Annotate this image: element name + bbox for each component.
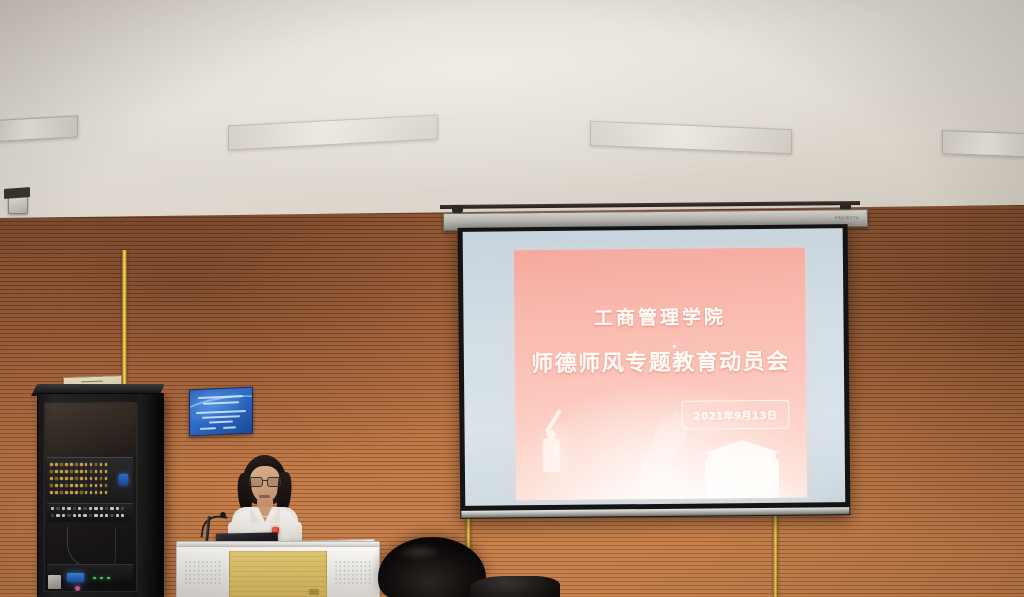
audio-mixer[interactable]	[47, 457, 133, 500]
rack-glass-door[interactable]	[44, 402, 137, 592]
patch-port-row[interactable]	[51, 514, 124, 517]
ceiling	[0, 0, 1024, 218]
blue-information-sign	[189, 387, 253, 437]
mixer-knob-row[interactable]	[50, 470, 107, 473]
mixer-knob-row[interactable]	[50, 477, 107, 480]
status-led-icon	[107, 577, 110, 580]
mixer-knob-row[interactable]	[50, 491, 107, 494]
patch-panel[interactable]	[47, 503, 133, 522]
sign-text-line	[200, 427, 216, 430]
eyeglasses-icon	[249, 477, 281, 486]
mixer-knob-row[interactable]	[50, 484, 107, 487]
slide-main-title: 师德师风专题教育动员会	[515, 344, 806, 379]
sign-text-line	[223, 426, 236, 429]
ceiling-light-panel	[228, 114, 438, 150]
presenter-mouth	[259, 495, 270, 498]
rack-side-panel	[137, 394, 163, 597]
ceiling-light-panel	[942, 130, 1024, 158]
ceiling-light-panel	[590, 121, 792, 154]
slide-date-text: 2021年9月13日	[694, 407, 778, 423]
slide-footer-mark: · · · · ·	[530, 487, 559, 492]
podium	[176, 546, 380, 597]
slide-date-badge: 2021年9月13日	[682, 400, 790, 430]
wall-sensor-icon	[8, 196, 28, 214]
mixer-knob-row[interactable]	[50, 463, 107, 466]
podium-speaker-grille	[334, 560, 372, 586]
patch-port-row[interactable]	[51, 507, 124, 510]
ceiling-light-panel	[0, 115, 78, 142]
amplifier-display-icon	[67, 573, 84, 582]
tiananmen-gate-icon	[703, 440, 782, 499]
power-led-icon	[75, 586, 80, 591]
presentation-room-photo: PROJECTA 工商管理学院 师德师风专题教育动员会	[0, 0, 1024, 597]
microphone-icon	[220, 512, 226, 518]
slide-organization-title: 工商管理学院	[514, 302, 805, 332]
status-led-icon	[93, 577, 96, 580]
equipment-rack	[37, 393, 164, 597]
necklace-icon	[256, 509, 274, 517]
podium-wood-panel	[229, 551, 327, 597]
slide-figure-silhouette	[531, 402, 584, 484]
plaque-text-line	[81, 381, 103, 383]
screen-brand-label: PROJECTA	[835, 215, 859, 220]
status-led-icon	[100, 577, 103, 580]
podium-emblem-icon	[309, 589, 319, 595]
projected-slide: 工商管理学院 师德师风专题教育动员会 2021年9月13日 · · · · ·	[514, 248, 807, 501]
projector-screen: 工商管理学院 师德师风专题教育动员会 2021年9月13日 · · · · ·	[458, 224, 851, 519]
podium-speaker-grille	[184, 560, 222, 586]
audience-member-shoulder	[470, 576, 560, 597]
projector-screen-surface: 工商管理学院 师德师风专题教育动员会 2021年9月13日 · · · · ·	[463, 228, 846, 506]
rack-white-module	[48, 575, 61, 589]
mixer-display-icon	[119, 474, 128, 485]
